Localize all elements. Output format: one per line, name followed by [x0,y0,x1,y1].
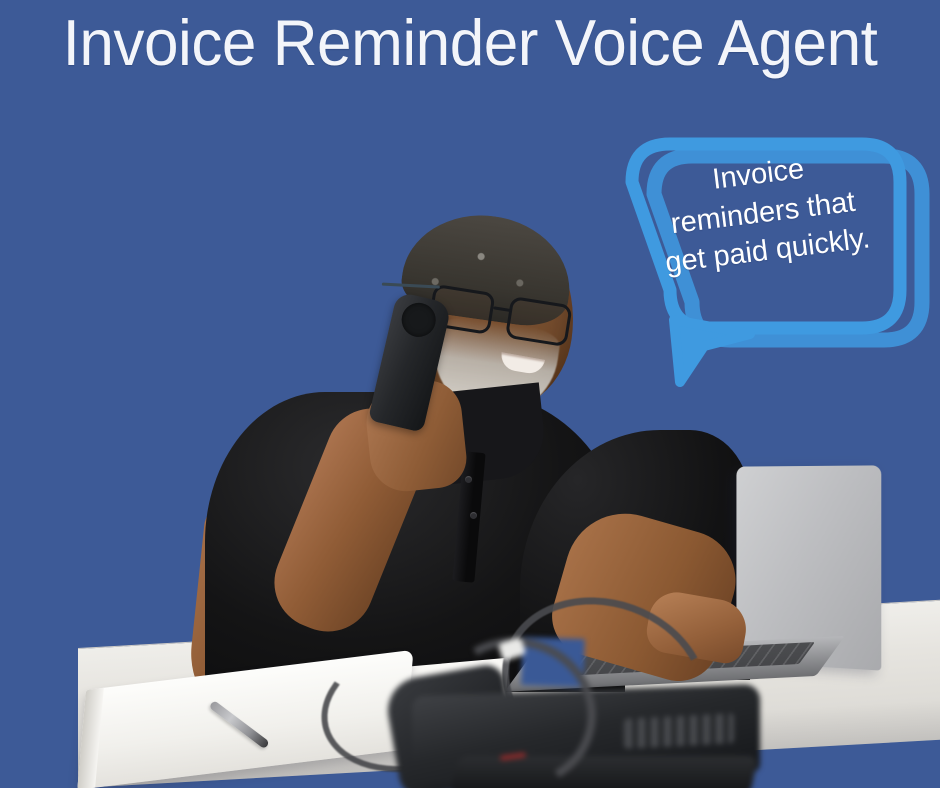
poster-canvas: Invoice reminders that get paid quickly.… [0,0,940,788]
shirt-button [465,476,472,483]
handset-earpiece [398,299,439,340]
desk-phone-keypad [624,713,734,749]
speech-bubble: Invoice reminders that get paid quickly. [600,120,940,420]
shirt-button [470,512,477,519]
desk-phone [392,638,764,788]
page-title: Invoice Reminder Voice Agent [21,10,919,75]
eyeglass-lens-right [505,296,573,347]
